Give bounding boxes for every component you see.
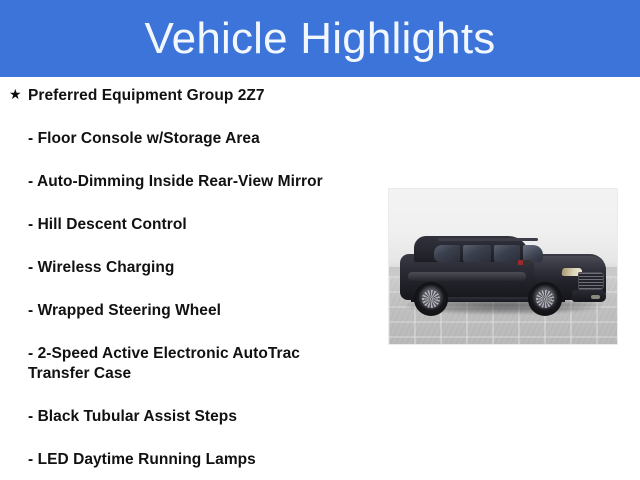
z71-badge bbox=[518, 260, 531, 265]
front-wheel bbox=[528, 282, 562, 316]
highlight-label: - Auto-Dimming Inside Rear-View Mirror bbox=[28, 172, 372, 192]
header-banner: Vehicle Highlights bbox=[0, 0, 640, 77]
list-item: - Wireless Charging bbox=[0, 258, 372, 278]
suv-illustration bbox=[400, 232, 606, 316]
list-item: - LED Daytime Running Lamps bbox=[0, 450, 372, 470]
body-highlight bbox=[408, 272, 526, 281]
list-item: ★ Preferred Equipment Group 2Z7 bbox=[0, 86, 372, 106]
list-item: - Auto-Dimming Inside Rear-View Mirror bbox=[0, 172, 372, 192]
list-item: - 2-Speed Active Electronic AutoTrac Tra… bbox=[0, 344, 372, 384]
rear-quarter-window bbox=[434, 245, 460, 262]
page-title: Vehicle Highlights bbox=[145, 16, 496, 62]
front-grille bbox=[578, 272, 604, 290]
vehicle-highlights-list: ★ Preferred Equipment Group 2Z7 - Floor … bbox=[0, 86, 372, 470]
vehicle-photo bbox=[388, 188, 618, 345]
rear-door-window bbox=[463, 245, 491, 262]
front-door-window bbox=[494, 245, 520, 262]
vehicle-cabin bbox=[414, 236, 530, 262]
highlight-label: - LED Daytime Running Lamps bbox=[28, 450, 372, 470]
highlight-label: - Floor Console w/Storage Area bbox=[28, 129, 372, 149]
rear-wheel bbox=[414, 282, 448, 316]
vehicle-photo-image bbox=[388, 188, 618, 345]
highlight-label: - Wrapped Steering Wheel bbox=[28, 301, 372, 321]
roof-rail bbox=[438, 238, 538, 241]
star-bullet-icon: ★ bbox=[9, 86, 27, 105]
list-item: - Wrapped Steering Wheel bbox=[0, 301, 372, 321]
highlight-label: Preferred Equipment Group 2Z7 bbox=[28, 86, 372, 106]
highlight-label: - Hill Descent Control bbox=[28, 215, 372, 235]
fog-lamp bbox=[591, 295, 600, 299]
list-item: - Hill Descent Control bbox=[0, 215, 372, 235]
highlight-label: - 2-Speed Active Electronic AutoTrac Tra… bbox=[28, 344, 372, 384]
content-area: ★ Preferred Equipment Group 2Z7 - Floor … bbox=[0, 77, 640, 480]
highlight-label: - Wireless Charging bbox=[28, 258, 372, 278]
list-item: - Black Tubular Assist Steps bbox=[0, 407, 372, 427]
highlight-label: - Black Tubular Assist Steps bbox=[28, 407, 372, 427]
front-bumper bbox=[572, 290, 606, 302]
list-item: - Floor Console w/Storage Area bbox=[0, 129, 372, 149]
